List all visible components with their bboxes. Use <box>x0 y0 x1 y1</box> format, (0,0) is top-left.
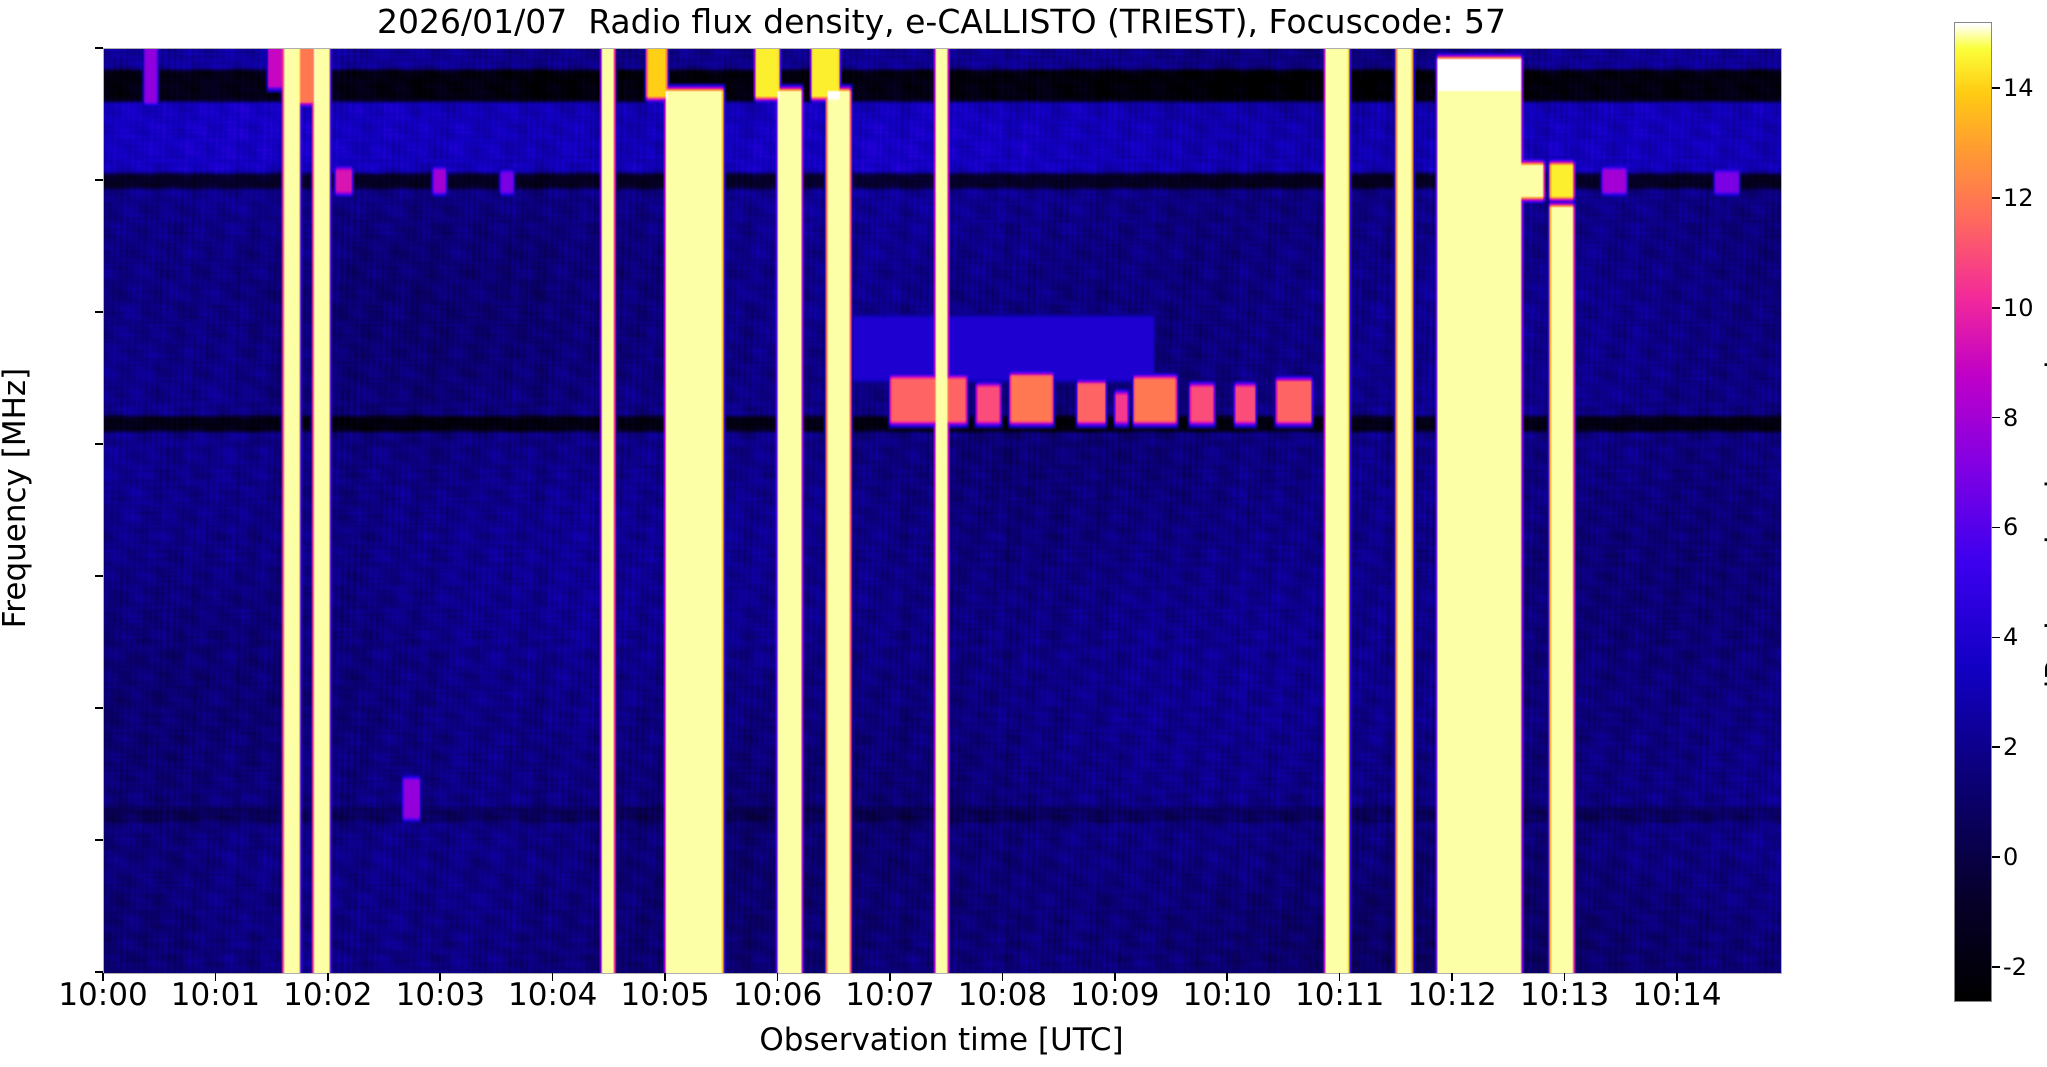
colorbar-tick-label: 12 <box>2003 184 2034 212</box>
colorbar-tick-label: 14 <box>2003 74 2034 102</box>
colorbar-tick-label: 0 <box>2003 843 2018 871</box>
colorbar-tick-label: -2 <box>2003 953 2027 981</box>
colorbar-tick-label: 6 <box>2003 513 2018 541</box>
y-tick-mark <box>95 443 103 445</box>
colorbar-tick-mark <box>1992 197 2000 199</box>
y-tick-mark <box>95 179 103 181</box>
colorbar-tick-mark <box>1992 637 2000 639</box>
colorbar-tick-label: 4 <box>2003 623 2018 651</box>
x-tick-label: 10:14 <box>1597 977 1757 1013</box>
colorbar-tick-mark <box>1992 87 2000 89</box>
colorbar[interactable] <box>1954 22 1992 1002</box>
colorbar-tick-label: 10 <box>2003 294 2034 322</box>
colorbar-tick-mark <box>1992 966 2000 968</box>
y-tick-mark <box>95 707 103 709</box>
y-tick-mark <box>95 47 103 49</box>
y-tick-mark <box>95 839 103 841</box>
spectrogram-axes[interactable] <box>103 48 1782 974</box>
spectrogram-image <box>104 49 1781 973</box>
x-axis-label: Observation time [UTC] <box>103 1022 1780 1058</box>
page-title: 2026/01/07 Radio flux density, e-CALLIST… <box>103 2 1780 42</box>
colorbar-tick-mark <box>1992 856 2000 858</box>
colorbar-label: dB above background <box>2040 220 2047 840</box>
colorbar-tick-mark <box>1992 417 2000 419</box>
colorbar-gradient <box>1955 23 1991 1001</box>
y-tick-mark <box>95 575 103 577</box>
figure-canvas: 2026/01/07 Radio flux density, e-CALLIST… <box>0 0 2047 1067</box>
colorbar-tick-label: 2 <box>2003 733 2018 761</box>
y-axis-label: Frequency [MHz] <box>0 28 33 968</box>
colorbar-tick-label: 8 <box>2003 404 2018 432</box>
colorbar-tick-mark <box>1992 527 2000 529</box>
y-tick-mark <box>95 311 103 313</box>
colorbar-tick-mark <box>1992 746 2000 748</box>
colorbar-tick-mark <box>1992 307 2000 309</box>
